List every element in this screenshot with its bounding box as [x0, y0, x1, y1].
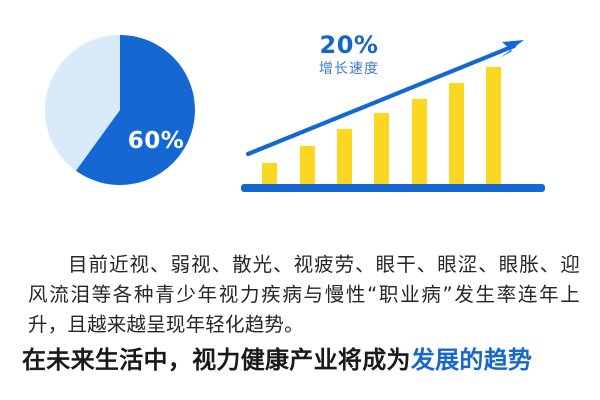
headline-lead: 在未来生活中，视力健康产业将成为 [22, 346, 411, 374]
pie-value-label: 60% [120, 130, 192, 153]
body-paragraph: 目前近视、弱视、散光、视疲劳、眼干、眼涩、眼胀、迎风流泪等各种青少年视力疾病与慢… [28, 250, 580, 340]
pie-chart-svg [42, 32, 198, 188]
bar-4 [374, 113, 389, 186]
chart-baseline [241, 184, 545, 192]
bar-6 [449, 83, 464, 186]
headline-highlight: 发展的趋势 [411, 346, 533, 374]
bar-1 [262, 163, 277, 186]
bar-7 [486, 67, 501, 186]
infographic-band: 60% 20% 增长速度 [0, 0, 600, 222]
bar-3 [337, 129, 352, 186]
growth-subtitle: 增长速度 [284, 61, 414, 77]
growth-percent: 20% [284, 32, 414, 60]
pie-chart: 60% [42, 32, 198, 188]
bar-2 [300, 146, 315, 186]
bar-chart: 20% 增长速度 [232, 14, 562, 214]
headline: 在未来生活中，视力健康产业将成为发展的趋势 [22, 340, 588, 375]
growth-callout: 20% 增长速度 [284, 32, 414, 77]
bar-5 [412, 99, 427, 186]
